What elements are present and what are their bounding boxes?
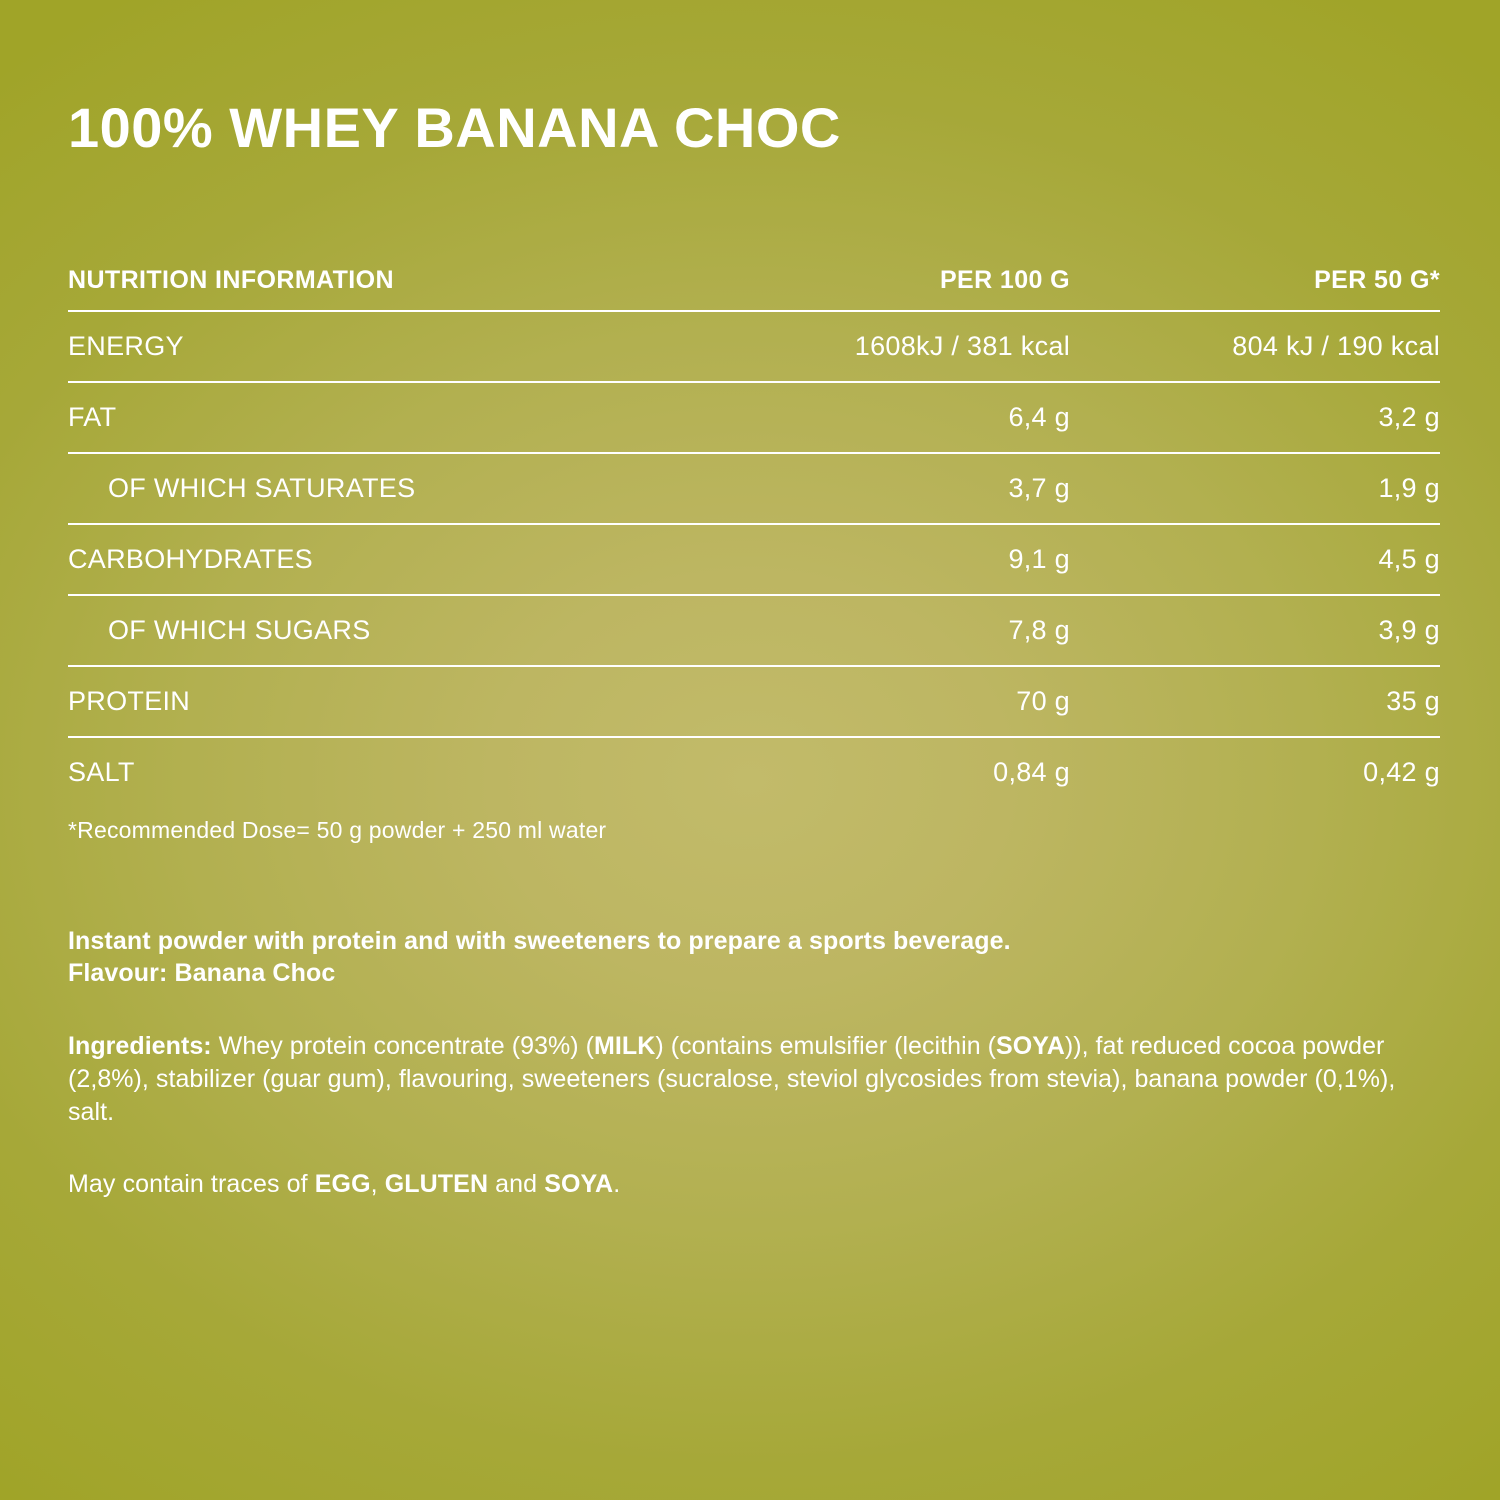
nutrient-label: FAT xyxy=(68,382,708,453)
description-line-2: Flavour: Banana Choc xyxy=(68,959,335,987)
nutrient-value-per-50g: 3,2 g xyxy=(1070,382,1440,453)
allergen-traces-note: May contain traces of EGG, GLUTEN and SO… xyxy=(68,1168,1442,1201)
ingredients-paragraph: Ingredients: Whey protein concentrate (9… xyxy=(68,1030,1446,1129)
nutrition-label-panel: 100% WHEY BANANA CHOC NUTRITION INFORMAT… xyxy=(0,0,1500,1500)
description-line-1: Instant powder with protein and with swe… xyxy=(68,927,1011,955)
table-row: FAT6,4 g3,2 g xyxy=(68,382,1440,453)
traces-separator-1: , xyxy=(371,1170,385,1198)
nutrient-value-per-100g: 6,4 g xyxy=(708,382,1070,453)
nutrient-label: OF WHICH SUGARS xyxy=(68,595,708,666)
nutrition-table: NUTRITION INFORMATION PER 100 G PER 50 G… xyxy=(68,258,1440,807)
nutrient-value-per-50g: 0,42 g xyxy=(1070,737,1440,807)
table-header-row: NUTRITION INFORMATION PER 100 G PER 50 G… xyxy=(68,258,1440,311)
nutrient-label: CARBOHYDRATES xyxy=(68,524,708,595)
nutrient-value-per-100g: 7,8 g xyxy=(708,595,1070,666)
traces-separator-2: and xyxy=(488,1170,544,1198)
nutrition-table-body: ENERGY1608kJ / 381 kcal804 kJ / 190 kcal… xyxy=(68,311,1440,807)
nutrient-label: PROTEIN xyxy=(68,666,708,737)
column-header-per-100g: PER 100 G xyxy=(708,258,1070,311)
traces-suffix: . xyxy=(613,1170,620,1198)
allergen-gluten: GLUTEN xyxy=(385,1170,488,1198)
ingredients-text-part-2: ) (contains emulsifier (lecithin ( xyxy=(655,1032,996,1060)
nutrient-value-per-50g: 1,9 g xyxy=(1070,453,1440,524)
nutrient-value-per-100g: 1608kJ / 381 kcal xyxy=(708,311,1070,382)
nutrient-label: OF WHICH SATURATES xyxy=(68,453,708,524)
page-title: 100% WHEY BANANA CHOC xyxy=(68,100,841,156)
nutrient-value-per-100g: 3,7 g xyxy=(708,453,1070,524)
nutrient-value-per-50g: 3,9 g xyxy=(1070,595,1440,666)
allergen-soya: SOYA xyxy=(996,1032,1065,1060)
table-row: ENERGY1608kJ / 381 kcal804 kJ / 190 kcal xyxy=(68,311,1440,382)
nutrient-label: ENERGY xyxy=(68,311,708,382)
ingredients-heading: Ingredients: xyxy=(68,1032,212,1060)
table-row: CARBOHYDRATES9,1 g4,5 g xyxy=(68,524,1440,595)
ingredients-text-part-1: Whey protein concentrate (93%) ( xyxy=(212,1032,594,1060)
allergen-milk: MILK xyxy=(594,1032,655,1060)
table-row: OF WHICH SATURATES3,7 g1,9 g xyxy=(68,453,1440,524)
table-row: PROTEIN70 g35 g xyxy=(68,666,1440,737)
column-header-per-50g: PER 50 G* xyxy=(1070,258,1440,311)
nutrient-value-per-50g: 35 g xyxy=(1070,666,1440,737)
nutrient-value-per-100g: 9,1 g xyxy=(708,524,1070,595)
nutrient-value-per-50g: 804 kJ / 190 kcal xyxy=(1070,311,1440,382)
serving-footnote: *Recommended Dose= 50 g powder + 250 ml … xyxy=(68,817,606,844)
allergen-egg: EGG xyxy=(315,1170,371,1198)
column-header-nutrient: NUTRITION INFORMATION xyxy=(68,258,708,311)
table-row: SALT0,84 g0,42 g xyxy=(68,737,1440,807)
nutrient-value-per-50g: 4,5 g xyxy=(1070,524,1440,595)
nutrient-value-per-100g: 0,84 g xyxy=(708,737,1070,807)
nutrient-value-per-100g: 70 g xyxy=(708,666,1070,737)
traces-prefix: May contain traces of xyxy=(68,1170,315,1198)
product-description: Instant powder with protein and with swe… xyxy=(68,925,1442,989)
nutrient-label: SALT xyxy=(68,737,708,807)
nutrition-table-head: NUTRITION INFORMATION PER 100 G PER 50 G… xyxy=(68,258,1440,311)
table-row: OF WHICH SUGARS7,8 g3,9 g xyxy=(68,595,1440,666)
allergen-soya-traces: SOYA xyxy=(544,1170,613,1198)
